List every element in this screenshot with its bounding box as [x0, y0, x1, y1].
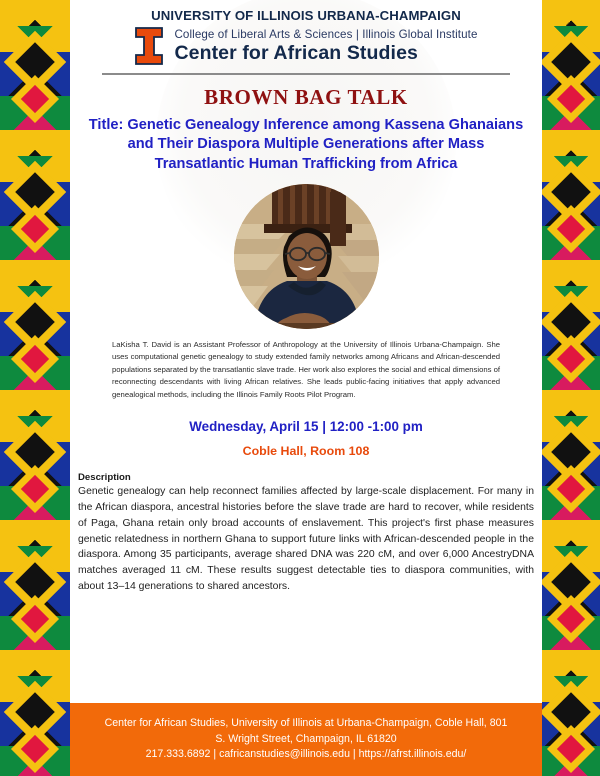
- center-name: Center for African Studies: [174, 42, 477, 65]
- kente-border-right: [542, 0, 600, 776]
- header-divider: [102, 73, 510, 75]
- speaker-portrait-photo: [234, 184, 379, 329]
- description-text: Genetic genealogy can help reconnect fam…: [78, 484, 534, 595]
- event-type-heading: BROWN BAG TALK: [70, 85, 542, 110]
- college-name: College of Liberal Arts & Sciences | Ill…: [174, 28, 477, 41]
- kente-pattern-strip: [542, 0, 600, 776]
- description-section: Description Genetic genealogy can help r…: [78, 472, 534, 595]
- flyer-body: UNIVERSITY OF ILLINOIS URBANA-CHAMPAIGN …: [70, 0, 542, 776]
- footer-address-line-1: Center for African Studies, University o…: [76, 716, 536, 731]
- kente-pattern-strip: [0, 0, 70, 776]
- speaker-photo-container: [70, 184, 542, 329]
- flyer-header: UNIVERSITY OF ILLINOIS URBANA-CHAMPAIGN …: [70, 0, 542, 75]
- university-name: UNIVERSITY OF ILLINOIS URBANA-CHAMPAIGN: [84, 8, 528, 23]
- event-location: Coble Hall, Room 108: [70, 444, 542, 458]
- footer-contact-line: 217.333.6892 | cafricanstudies@illinois.…: [76, 747, 536, 762]
- speaker-bio: LaKisha T. David is an Assistant Profess…: [112, 339, 500, 401]
- kente-border-left: [0, 0, 70, 776]
- flyer-footer: Center for African Studies, University o…: [70, 703, 542, 776]
- event-datetime: Wednesday, April 15 | 12:00 -1:00 pm: [70, 419, 542, 434]
- description-heading: Description: [78, 472, 534, 483]
- illinois-block-i-icon: [134, 26, 164, 66]
- event-title: Title: Genetic Genealogy Inference among…: [86, 116, 526, 174]
- footer-address-line-2: S. Wright Street, Champaign, IL 61820: [76, 732, 536, 747]
